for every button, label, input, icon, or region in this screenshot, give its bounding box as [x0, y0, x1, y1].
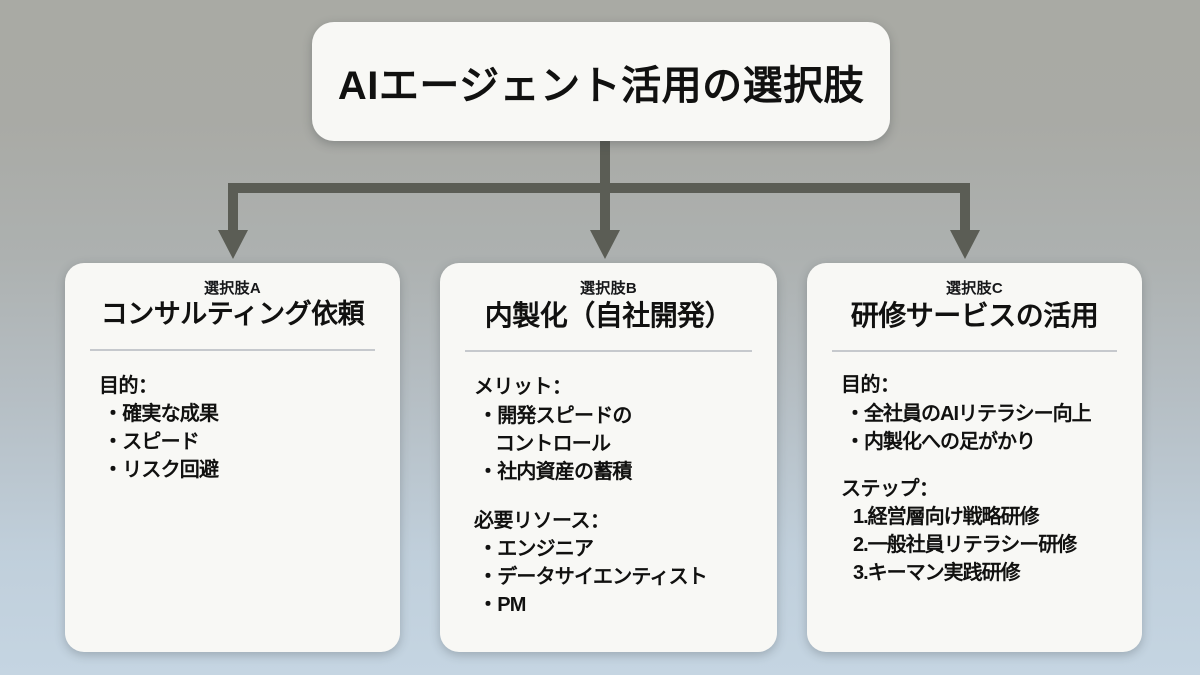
- group-heading: 目的：: [99, 373, 380, 401]
- card-b-title: 内製化（自社開発）: [460, 299, 757, 332]
- card-a-title: コンサルティング依頼: [85, 299, 380, 331]
- page-title: AIエージェント活用の選択肢: [338, 53, 864, 111]
- card-b-body: メリット： ・開発スピードの コントロール ・社内資産の蓄積 必要リソース： ・…: [460, 374, 757, 619]
- list-item: ・社内資産の蓄積: [474, 458, 757, 486]
- card-a-label: 選択肢A: [85, 277, 380, 298]
- card-b-group-0: メリット： ・開発スピードの コントロール ・社内資産の蓄積: [474, 374, 757, 486]
- card-c-group-1: ステップ： 1.経営層向け戦略研修 2.一般社員リテラシー研修 3.キーマン実践…: [841, 476, 1122, 588]
- connector-drop-right: [960, 183, 970, 230]
- card-c-label: 選択肢C: [827, 277, 1122, 298]
- list-item: ・PM: [474, 591, 757, 619]
- list-item-continuation: コントロール: [474, 430, 757, 458]
- group-heading: 目的：: [841, 372, 1122, 400]
- list-item: ・内製化への足がかり: [841, 428, 1122, 456]
- connector-stem-vertical: [600, 140, 610, 190]
- option-card-c[interactable]: 選択肢C 研修サービスの活用 目的： ・全社員のAIリテラシー向上 ・内製化への…: [807, 263, 1142, 652]
- arrow-head-center: [590, 230, 620, 259]
- card-a-divider: [90, 349, 375, 351]
- list-item: 1.経営層向け戦略研修: [841, 503, 1122, 531]
- card-c-body: 目的： ・全社員のAIリテラシー向上 ・内製化への足がかり ステップ： 1.経営…: [827, 372, 1122, 587]
- list-item: 2.一般社員リテラシー研修: [841, 531, 1122, 559]
- connector-bar-horizontal: [228, 183, 970, 193]
- list-item: ・データサイエンティスト: [474, 563, 757, 591]
- card-c-title: 研修サービスの活用: [827, 299, 1122, 332]
- group-heading: ステップ：: [841, 476, 1122, 504]
- list-item: ・全社員のAIリテラシー向上: [841, 400, 1122, 428]
- card-b-divider: [465, 350, 752, 352]
- list-item: ・リスク回避: [99, 456, 380, 484]
- group-heading: 必要リソース：: [474, 508, 757, 536]
- title-box: AIエージェント活用の選択肢: [312, 22, 890, 141]
- list-item: ・エンジニア: [474, 535, 757, 563]
- arrow-head-left: [218, 230, 248, 259]
- card-c-divider: [832, 350, 1117, 352]
- card-a-group-0: 目的： ・確実な成果 ・スピード ・リスク回避: [99, 373, 380, 485]
- list-item: ・開発スピードの: [474, 402, 757, 430]
- connector-drop-center: [600, 183, 610, 230]
- card-b-label: 選択肢B: [460, 277, 757, 298]
- group-heading: メリット：: [474, 374, 757, 402]
- card-a-body: 目的： ・確実な成果 ・スピード ・リスク回避: [85, 373, 380, 485]
- option-card-b[interactable]: 選択肢B 内製化（自社開発） メリット： ・開発スピードの コントロール ・社内…: [440, 263, 777, 652]
- card-c-group-0: 目的： ・全社員のAIリテラシー向上 ・内製化への足がかり: [841, 372, 1122, 456]
- list-item: ・確実な成果: [99, 400, 380, 428]
- connector-drop-left: [228, 183, 238, 230]
- arrow-head-right: [950, 230, 980, 259]
- list-item: ・スピード: [99, 428, 380, 456]
- list-item: 3.キーマン実践研修: [841, 559, 1122, 587]
- slide-canvas: AIエージェント活用の選択肢 選択肢A コンサルティング依頼 目的： ・確実な成…: [0, 0, 1200, 675]
- option-card-a[interactable]: 選択肢A コンサルティング依頼 目的： ・確実な成果 ・スピード ・リスク回避: [65, 263, 400, 652]
- card-b-group-1: 必要リソース： ・エンジニア ・データサイエンティスト ・PM: [474, 508, 757, 620]
